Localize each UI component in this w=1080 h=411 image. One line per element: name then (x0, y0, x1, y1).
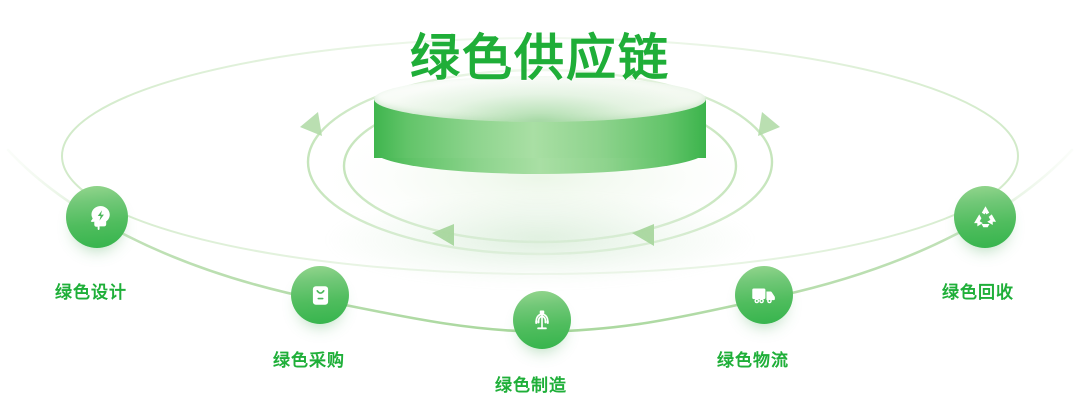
stage-bubble-design[interactable] (66, 186, 128, 248)
head-lightning-icon (82, 202, 112, 232)
robot-arm-icon (528, 306, 556, 334)
orbit-arrow-top-left (300, 112, 322, 136)
green-supply-chain-infographic: 绿色供应链 绿色设计 绿色采购 (0, 0, 1080, 411)
stage-node-design[interactable] (66, 186, 128, 248)
shopping-bag-icon (307, 282, 334, 309)
truck-icon (749, 280, 779, 310)
recycle-icon (971, 203, 1000, 232)
central-cylinder (374, 76, 706, 176)
cylinder-base-glow (328, 194, 752, 286)
orbit-arrow-top-right (758, 112, 780, 136)
stage-label-procure: 绿色采购 (273, 346, 345, 371)
stage-node-logistics[interactable] (735, 266, 793, 324)
stage-node-recycle[interactable] (954, 186, 1016, 248)
stage-label-manufacturing: 绿色制造 (495, 371, 567, 396)
stage-label-design: 绿色设计 (55, 278, 127, 303)
stage-bubble-procure[interactable] (291, 266, 349, 324)
stage-bubble-logistics[interactable] (735, 266, 793, 324)
page-title: 绿色供应链 (0, 33, 1080, 83)
stage-node-procure[interactable] (291, 266, 349, 324)
stage-label-recycle: 绿色回收 (942, 278, 1014, 303)
stage-label-logistics: 绿色物流 (717, 346, 789, 371)
stage-bubble-recycle[interactable] (954, 186, 1016, 248)
stage-node-manufacturing[interactable] (513, 291, 571, 349)
stage-bubble-manufacturing[interactable] (513, 291, 571, 349)
